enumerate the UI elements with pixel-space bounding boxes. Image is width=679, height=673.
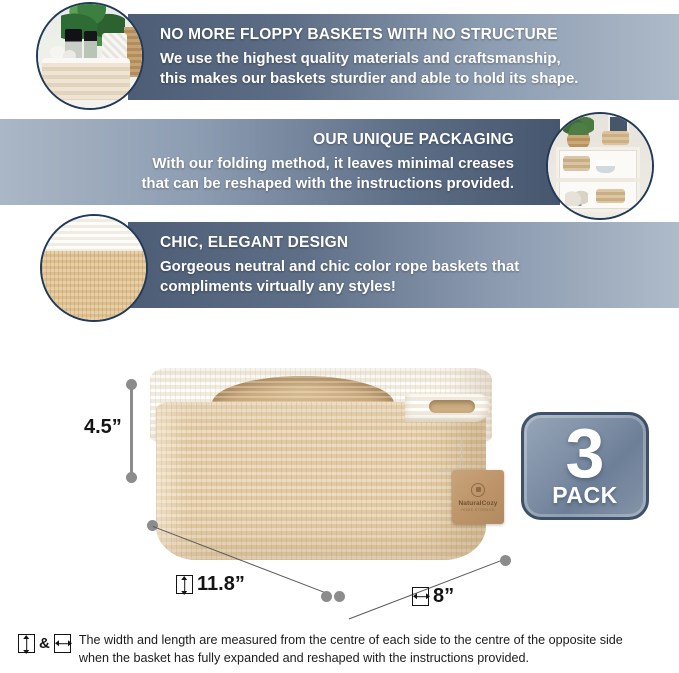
height-marker-bottom [126, 472, 137, 483]
length-marker-end [321, 591, 332, 602]
width-marker-end [500, 555, 511, 566]
feature-banner-3: CHIC, ELEGANT DESIGN Gorgeous neutral an… [128, 222, 679, 308]
feature-1-line-2: this makes our baskets sturdier and able… [160, 69, 665, 89]
brand-hang-tag: NaturalCozy HOME STORAGE [452, 470, 504, 524]
feature-banner-2: OUR UNIQUE PACKAGING With our folding me… [0, 119, 560, 205]
hang-tag-brand: NaturalCozy [458, 500, 497, 507]
feature-3-title: CHIC, ELEGANT DESIGN [160, 234, 665, 252]
footnote-icons: & [18, 634, 71, 653]
feature-banner-1: NO MORE FLOPPY BASKETS WITH NO STRUCTURE… [128, 14, 679, 100]
tan-rope-band [42, 251, 146, 320]
feature-3-body: Gorgeous neutral and chic color rope bas… [160, 257, 665, 297]
vertical-arrow-icon [18, 634, 35, 653]
measurement-footnote: & The width and length are measured from… [0, 628, 679, 673]
feature-1-photo [36, 2, 144, 110]
rope-basket [42, 58, 129, 100]
vertical-arrow-icon [176, 575, 193, 594]
white-rope-band [42, 216, 146, 251]
hang-tag-subtitle: HOME STORAGE [461, 508, 494, 512]
decor-vases [565, 185, 588, 206]
horizontal-arrow-icon [54, 634, 71, 653]
basket-handle-cutout [429, 400, 475, 413]
horizontal-arrow-icon [412, 587, 429, 606]
brand-logo-icon [471, 483, 485, 497]
basket-middle-shelf [563, 156, 590, 172]
pack-count-badge: 3 PACK [521, 412, 649, 520]
ceramic-bowl [596, 160, 615, 174]
shelf-decor-image [548, 114, 652, 218]
feature-2-body: With our folding method, it leaves minim… [14, 154, 514, 194]
feature-3-photo [40, 214, 148, 322]
width-dimension-label: 8” [433, 585, 454, 608]
basket-toiletries-image [38, 4, 142, 108]
product-infographic: NO MORE FLOPPY BASKETS WITH NO STRUCTURE… [0, 0, 679, 673]
pack-count-number: 3 [566, 423, 605, 483]
footnote-ampersand: & [39, 635, 50, 652]
width-dimension-group: 8” [412, 585, 454, 608]
feature-1-title: NO MORE FLOPPY BASKETS WITH NO STRUCTURE [160, 26, 665, 44]
feature-2-line-1: With our folding method, it leaves minim… [14, 154, 514, 174]
feature-2-line-2: that can be reshaped with the instructio… [14, 174, 514, 194]
basket-top-shelf [602, 131, 629, 146]
width-marker-start [334, 591, 345, 602]
feature-2-title: OUR UNIQUE PACKAGING [14, 131, 514, 149]
feature-3-line-2: compliments virtually any styles! [160, 277, 665, 297]
height-guide-line [130, 385, 133, 477]
footnote-line-1: The width and length are measured from t… [79, 632, 623, 650]
pack-count-word: PACK [552, 482, 617, 509]
hang-tag-string [436, 438, 462, 472]
feature-1-body: We use the highest quality materials and… [160, 49, 665, 89]
length-dimension-label: 11.8” [197, 573, 245, 596]
footnote-line-2: when the basket has fully expanded and r… [79, 650, 623, 668]
basket-bottom-shelf [596, 189, 625, 204]
feature-1-line-1: We use the highest quality materials and… [160, 49, 665, 69]
length-dimension-group: 11.8” [176, 573, 245, 596]
feature-3-line-1: Gorgeous neutral and chic color rope bas… [160, 257, 665, 277]
height-dimension-label: 4.5” [84, 416, 122, 439]
rope-texture-image [42, 216, 146, 320]
basket-tan-body [156, 402, 486, 560]
footnote-text: The width and length are measured from t… [79, 628, 623, 668]
feature-2-photo [546, 112, 654, 220]
